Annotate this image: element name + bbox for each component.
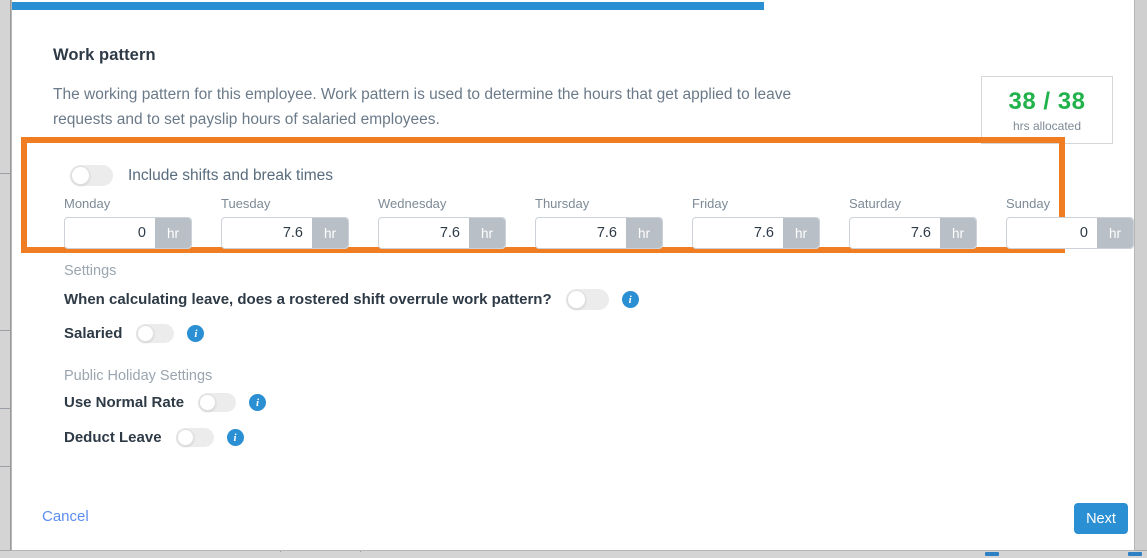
day-column: Saturday7.6hr	[849, 196, 977, 249]
day-hours-value[interactable]: 0	[65, 218, 155, 248]
page-title: Work pattern	[53, 46, 156, 65]
background-accent	[985, 552, 999, 556]
day-hours-unit: hr	[1097, 218, 1133, 248]
modal-body: Work pattern The working pattern for thi…	[12, 10, 1134, 490]
rostered-shift-setting-row[interactable]: When calculating leave, does a rostered …	[64, 289, 639, 310]
background-page-bottom	[0, 550, 1147, 558]
public-holiday-group-label: Public Holiday Settings	[64, 368, 212, 384]
settings-group-label: Settings	[64, 263, 116, 279]
salaried-setting-row[interactable]: Salaried i	[64, 324, 204, 343]
day-hours-input[interactable]: 7.6hr	[535, 217, 663, 249]
deduct-leave-label: Deduct Leave	[64, 429, 162, 446]
wizard-progress-bar	[12, 2, 1134, 10]
use-normal-rate-toggle[interactable]	[198, 393, 236, 412]
day-hours-value[interactable]: 7.6	[693, 218, 783, 248]
day-label: Thursday	[535, 196, 663, 212]
info-icon[interactable]: i	[227, 429, 244, 446]
include-shifts-label: Include shifts and break times	[128, 167, 333, 185]
toggle-knob	[199, 394, 216, 411]
day-column: Thursday7.6hr	[535, 196, 663, 249]
day-hours-unit: hr	[312, 218, 348, 248]
page-root: Work pattern The working pattern for thi…	[0, 0, 1147, 558]
day-hours-value[interactable]: 0	[1007, 218, 1097, 248]
day-column: Wednesday7.6hr	[378, 196, 506, 249]
day-hours-input[interactable]: 0hr	[1006, 217, 1134, 249]
day-hours-input[interactable]: 7.6hr	[849, 217, 977, 249]
day-hours-value[interactable]: 7.6	[536, 218, 626, 248]
cancel-button[interactable]: Cancel	[42, 508, 89, 525]
background-divider	[0, 330, 11, 331]
background-page-strip	[0, 0, 11, 558]
day-label: Wednesday	[378, 196, 506, 212]
toggle-knob	[567, 290, 586, 309]
include-shifts-toggle[interactable]	[70, 165, 113, 186]
day-hours-value[interactable]: 7.6	[850, 218, 940, 248]
info-icon[interactable]: i	[249, 394, 266, 411]
next-button[interactable]: Next	[1074, 503, 1128, 534]
day-hours-value[interactable]: 7.6	[222, 218, 312, 248]
work-pattern-modal: Work pattern The working pattern for thi…	[11, 0, 1135, 551]
day-hours-input[interactable]: 7.6hr	[692, 217, 820, 249]
day-hours-unit: hr	[469, 218, 505, 248]
day-label: Sunday	[1006, 196, 1134, 212]
hours-allocated-count: 38 / 38	[1009, 88, 1086, 116]
day-hours-input[interactable]: 7.6hr	[378, 217, 506, 249]
day-label: Tuesday	[221, 196, 349, 212]
background-divider	[0, 173, 11, 174]
day-hours-unit: hr	[940, 218, 976, 248]
day-column: Tuesday7.6hr	[221, 196, 349, 249]
rostered-shift-label: When calculating leave, does a rostered …	[64, 291, 552, 308]
hours-allocated-badge: 38 / 38 hrs allocated	[981, 76, 1113, 144]
wizard-progress-fill	[12, 2, 764, 10]
info-icon[interactable]: i	[622, 291, 639, 308]
day-hours-unit: hr	[783, 218, 819, 248]
background-divider	[0, 466, 11, 467]
toggle-knob	[137, 325, 154, 342]
day-label: Saturday	[849, 196, 977, 212]
rostered-shift-toggle[interactable]	[566, 289, 609, 310]
toggle-knob	[177, 429, 194, 446]
day-label: Monday	[64, 196, 192, 212]
background-accent	[1128, 552, 1142, 556]
deduct-leave-toggle[interactable]	[176, 428, 214, 447]
include-shifts-row[interactable]: Include shifts and break times	[70, 165, 333, 186]
use-normal-rate-row[interactable]: Use Normal Rate i	[64, 393, 266, 412]
work-pattern-days: Monday0hrTuesday7.6hrWednesday7.6hrThurs…	[64, 196, 1134, 249]
use-normal-rate-label: Use Normal Rate	[64, 394, 184, 411]
day-hours-input[interactable]: 0hr	[64, 217, 192, 249]
day-column: Friday7.6hr	[692, 196, 820, 249]
day-hours-value[interactable]: 7.6	[379, 218, 469, 248]
page-description: The working pattern for this employee. W…	[53, 82, 853, 132]
salaried-label: Salaried	[64, 325, 122, 342]
day-column: Monday0hr	[64, 196, 192, 249]
toggle-knob	[71, 166, 90, 185]
day-hours-unit: hr	[155, 218, 191, 248]
day-label: Friday	[692, 196, 820, 212]
hours-allocated-caption: hrs allocated	[1013, 119, 1081, 133]
day-hours-input[interactable]: 7.6hr	[221, 217, 349, 249]
day-column: Sunday0hr	[1006, 196, 1134, 249]
salaried-toggle[interactable]	[136, 324, 174, 343]
background-divider	[0, 408, 11, 409]
deduct-leave-row[interactable]: Deduct Leave i	[64, 428, 244, 447]
day-hours-unit: hr	[626, 218, 662, 248]
info-icon[interactable]: i	[187, 325, 204, 342]
